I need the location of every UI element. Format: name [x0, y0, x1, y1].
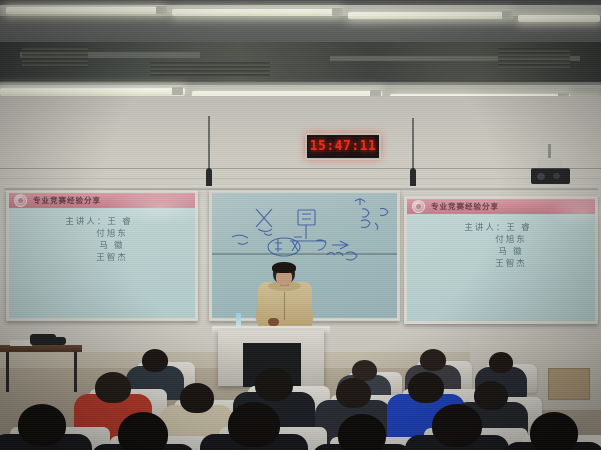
right-slide-title-bar: 专业竞赛经验分享 [407, 199, 595, 214]
audience-head [432, 404, 482, 447]
equipment-table-top [0, 345, 82, 352]
right-slide-body: 主讲人：王 睿 付旭东 马 徽 王智杰 [407, 221, 595, 269]
left-projection-screen: 专业竞赛经验分享 主讲人：王 睿 付旭东 马 徽 王智杰 [6, 190, 198, 321]
projector-lens-icon [537, 173, 545, 180]
audience-head [95, 372, 131, 403]
audience-head [18, 404, 66, 446]
left-slide-line-2: 付旭东 [96, 227, 128, 239]
right-slide-line-2: 付旭东 [495, 233, 527, 245]
ceiling-vent-mid [150, 62, 270, 76]
right-projection-screen: 专业竞赛经验分享 主讲人：王 睿 付旭东 马 徽 王智杰 [404, 196, 598, 324]
audience-head [530, 412, 578, 450]
ceiling-light-4 [518, 15, 600, 22]
ceiling-projector [531, 168, 570, 184]
hanging-rod-right [412, 118, 414, 172]
audience-head [118, 412, 168, 450]
university-emblem-icon [412, 200, 425, 213]
left-slide-line-3: 马 徽 [99, 239, 124, 251]
table-leg-right [74, 352, 77, 392]
audience-head [180, 383, 214, 413]
ceiling-light-3 [348, 12, 513, 19]
left-slide-title-bar: 专业竞赛经验分享 [9, 193, 195, 208]
whiteboard-handwriting [212, 193, 397, 263]
right-slide-line-4: 王智杰 [495, 257, 527, 269]
table-papers [10, 340, 32, 346]
ceiling-vent-left [22, 46, 88, 68]
university-emblem-icon [14, 194, 27, 207]
audience-head [142, 349, 168, 372]
audience-head [255, 368, 293, 401]
audience-head [228, 402, 280, 447]
left-slide-line-4: 王智杰 [96, 251, 128, 263]
left-slide-body: 主讲人：王 睿 付旭东 马 徽 王智杰 [9, 215, 195, 263]
table-equipment-2 [52, 337, 66, 345]
audience-head [474, 381, 508, 410]
audience-head [338, 414, 386, 450]
clock-time: 15:47:11 [310, 139, 377, 154]
ceiling-light-1 [6, 7, 166, 14]
audience-head [420, 349, 446, 371]
hanging-rod-left [208, 116, 210, 172]
ceiling-light-5 [0, 88, 185, 96]
right-slide-line-1: 主讲人：王 睿 [464, 221, 531, 233]
right-slide-title-text: 专业竞赛经验分享 [431, 201, 499, 212]
presenter-hair [272, 262, 296, 273]
wall-cabinet [548, 368, 590, 400]
lecture-hall-photo: 15:47:11 专业竞赛经验分享 主讲人：王 睿 付旭东 马 徽 王智杰 [0, 0, 601, 450]
wall-led-clock: 15:47:11 [305, 133, 381, 160]
audience-head [336, 378, 371, 408]
audience-head [489, 352, 513, 373]
right-slide-line-3: 马 徽 [498, 245, 523, 257]
projector-vent-icon [553, 173, 560, 179]
wall-seam-upper [0, 168, 601, 169]
presenter-hand [268, 318, 279, 326]
ceiling-light-2 [172, 9, 342, 16]
audience-head [408, 372, 444, 403]
table-leg-left [6, 352, 9, 392]
left-slide-line-1: 主讲人：王 睿 [65, 215, 132, 227]
left-slide-title-text: 专业竞赛经验分享 [33, 195, 101, 206]
ceiling-vent-right [498, 48, 570, 68]
presenter-jacket-zip [284, 292, 285, 320]
wall-seam-lower [0, 178, 601, 179]
